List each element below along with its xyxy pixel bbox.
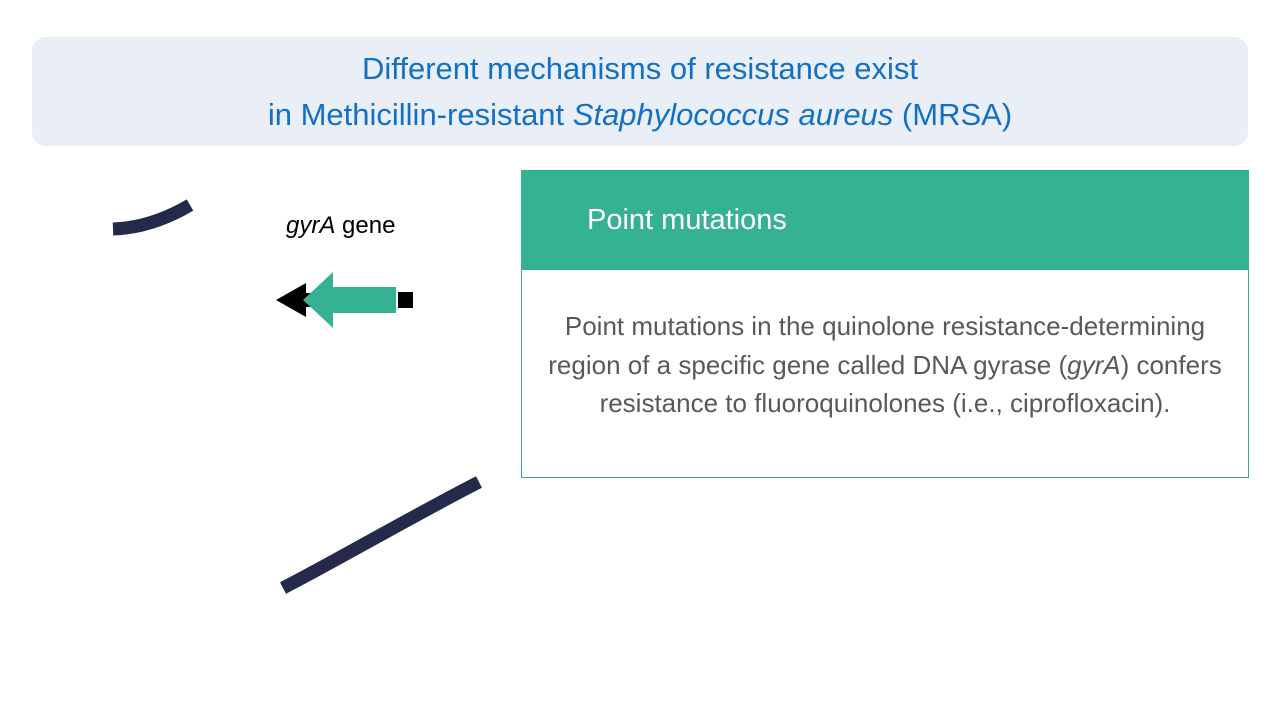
point-mutations-card: Point mutations Point mutations in the q… (521, 170, 1249, 478)
card-header: Point mutations (521, 170, 1249, 270)
gene-diagram: gyrA gene (0, 0, 521, 720)
card-body-gene-name: gyrA (1067, 350, 1120, 380)
gene-label-suffix: gene (335, 212, 395, 239)
card-body: Point mutations in the quinolone resista… (521, 270, 1249, 478)
gene-label-name: gyrA (286, 212, 335, 239)
chromosome-strand-upper-icon (113, 205, 190, 229)
card-body-text: Point mutations in the quinolone resista… (536, 307, 1234, 423)
chromosome-strand-lower-icon (283, 482, 479, 588)
gene-terminator-icon (398, 292, 413, 308)
gene-diagram-graphics (0, 0, 521, 720)
card-header-title: Point mutations (587, 203, 787, 237)
slide-title-line-2-suffix: (MRSA) (893, 97, 1012, 132)
slide-title-species-name: Staphylococcus aureus (573, 97, 894, 132)
gene-arrow-icon (303, 272, 396, 328)
gene-label: gyrA gene (286, 211, 395, 241)
